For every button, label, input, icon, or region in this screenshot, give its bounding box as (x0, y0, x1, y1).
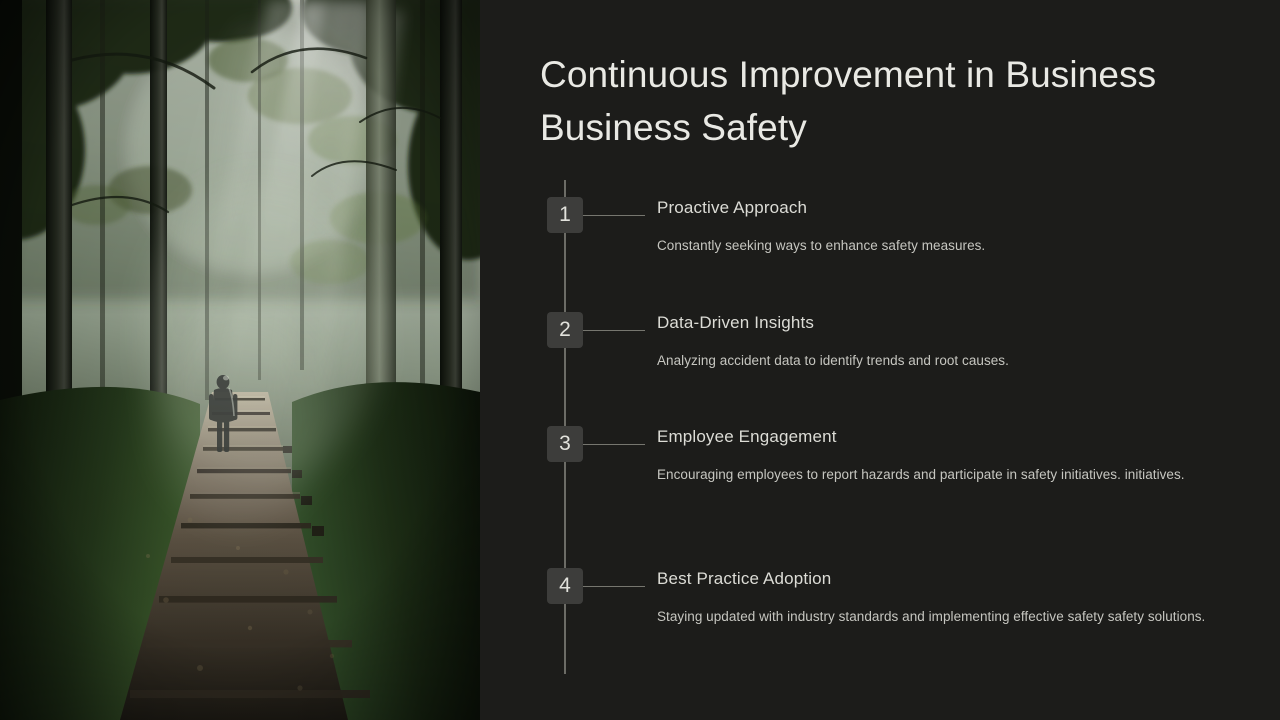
timeline-heading-4: Best Practice Adoption (657, 568, 831, 590)
forest-photo (0, 0, 480, 720)
timeline-connector-1 (583, 215, 645, 216)
timeline-step-number-3: 3 (547, 426, 583, 462)
slide-title: Continuous Improvement in Business Busin… (540, 48, 1240, 154)
timeline-heading-1: Proactive Approach (657, 197, 807, 219)
content-panel: Continuous Improvement in Business Busin… (480, 0, 1280, 720)
timeline-list: 1 Proactive Approach Constantly seeking … (540, 180, 1260, 680)
timeline-heading-2: Data-Driven Insights (657, 312, 814, 334)
timeline-description-1: Constantly seeking ways to enhance safet… (657, 232, 1217, 260)
slide: Continuous Improvement in Business Busin… (0, 0, 1280, 720)
timeline-connector-3 (583, 444, 645, 445)
timeline-connector-2 (583, 330, 645, 331)
timeline-description-2: Analyzing accident data to identify tren… (657, 347, 1217, 375)
timeline-step-number-1: 1 (547, 197, 583, 233)
timeline-connector-4 (583, 586, 645, 587)
timeline-heading-3: Employee Engagement (657, 426, 837, 448)
timeline-step-number-2: 2 (547, 312, 583, 348)
forest-photo-illustration (0, 0, 480, 720)
timeline-description-3: Encouraging employees to report hazards … (657, 461, 1217, 489)
timeline-description-4: Staying updated with industry standards … (657, 603, 1217, 631)
timeline-step-number-4: 4 (547, 568, 583, 604)
